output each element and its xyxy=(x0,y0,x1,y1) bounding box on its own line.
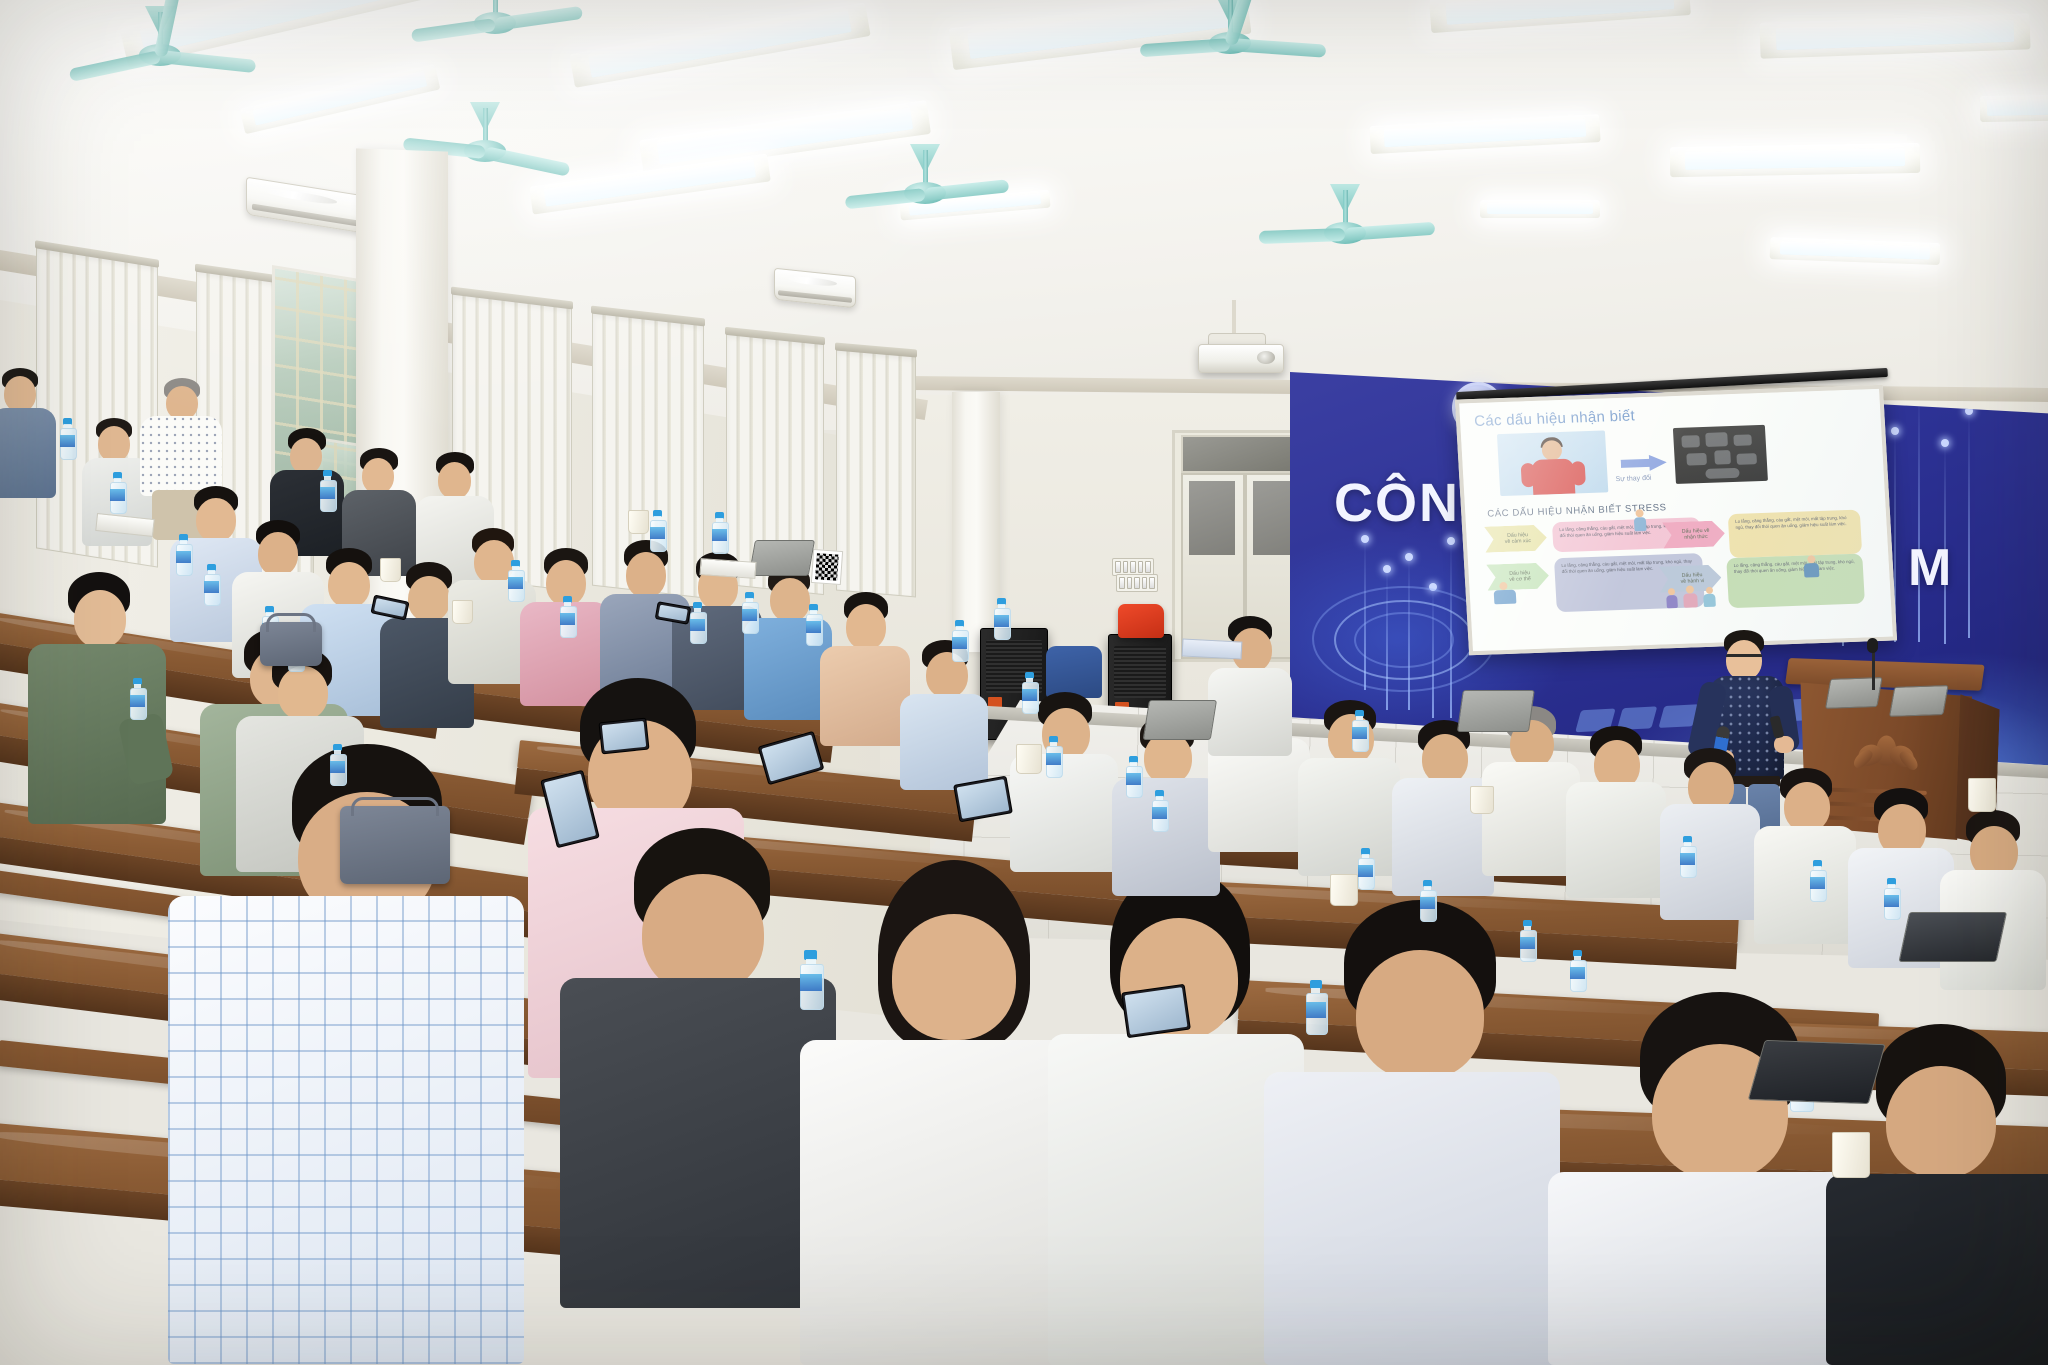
list-item xyxy=(1208,616,1294,756)
water-bottle[interactable] xyxy=(952,620,967,660)
paper-cup[interactable] xyxy=(1470,786,1494,814)
slide-figure-icon xyxy=(1493,581,1520,606)
fluorescent-tube-light xyxy=(1980,94,2048,122)
list-item xyxy=(0,368,60,508)
water-bottle[interactable] xyxy=(508,560,523,600)
list-item xyxy=(28,572,168,822)
water-bottle[interactable] xyxy=(130,678,145,718)
slide-category-bubble: Lo lắng, căng thẳng, cáu gắt, mệt mỏi, m… xyxy=(1728,510,1862,559)
laptop[interactable] xyxy=(1748,1040,1883,1102)
water-bottle[interactable] xyxy=(1570,950,1585,990)
list-item xyxy=(560,828,840,1308)
water-bottle[interactable] xyxy=(712,512,727,552)
laptop[interactable] xyxy=(1457,690,1533,730)
water-bottle[interactable] xyxy=(1352,710,1367,750)
water-bottle[interactable] xyxy=(60,418,75,458)
list-item xyxy=(1566,726,1668,898)
paper-cup[interactable] xyxy=(380,558,401,582)
water-bottle[interactable] xyxy=(806,604,821,644)
backdrop-text-right: M xyxy=(1908,538,1953,598)
slide-photo-blackboard xyxy=(1673,425,1768,484)
backdrop-decor-node xyxy=(1918,392,1920,642)
red-tote-bag xyxy=(1118,604,1164,638)
laptop[interactable] xyxy=(1889,685,1946,715)
water-bottle[interactable] xyxy=(110,472,125,512)
water-bottle[interactable] xyxy=(1810,860,1825,900)
paper-cup[interactable] xyxy=(628,510,649,534)
slide-photo-person xyxy=(1497,430,1608,496)
slide-figure-icon xyxy=(1631,509,1648,536)
water-bottle[interactable] xyxy=(742,592,757,632)
structural-column xyxy=(952,392,1000,652)
water-bottle[interactable] xyxy=(560,596,575,636)
eyeglasses-icon xyxy=(1726,654,1762,665)
slide-category-chevron: Dấu hiệu về cảm xúc xyxy=(1484,525,1547,553)
ceiling-fan xyxy=(60,12,260,102)
list-item xyxy=(1010,692,1120,872)
water-bottle[interactable] xyxy=(994,598,1009,638)
vertical-window-blind[interactable] xyxy=(836,349,916,598)
water-bottle[interactable] xyxy=(800,950,822,1008)
water-bottle[interactable] xyxy=(1046,736,1061,776)
paper-cup[interactable] xyxy=(1016,744,1042,774)
smartphone[interactable] xyxy=(598,718,649,755)
water-bottle[interactable] xyxy=(330,744,345,784)
water-bottle[interactable] xyxy=(1420,880,1435,920)
lecture-hall-photo: CÔNG M Các dấu hiệu nhận biết Sự thay đổ… xyxy=(0,0,2048,1365)
water-bottle[interactable] xyxy=(1126,756,1141,796)
water-bottle[interactable] xyxy=(650,510,665,550)
slide-category-chevron: Dấu hiệu về nhận thức xyxy=(1662,520,1725,548)
list-item xyxy=(820,592,912,748)
slide-title: Các dấu hiệu nhận biết xyxy=(1474,399,1867,430)
water-bottle[interactable] xyxy=(1680,836,1695,876)
list-item xyxy=(1754,768,1858,944)
smartphone[interactable] xyxy=(1121,984,1191,1038)
paper-cup[interactable] xyxy=(1330,874,1358,906)
water-bottle[interactable] xyxy=(1306,980,1326,1034)
notebook[interactable] xyxy=(1182,638,1243,659)
ceiling-fan xyxy=(1250,190,1440,280)
fluorescent-tube-light xyxy=(1480,200,1600,218)
laptop[interactable] xyxy=(1143,700,1215,738)
wall-switch-panel[interactable] xyxy=(1116,574,1158,592)
list-item xyxy=(1940,810,2048,990)
projection-screen: Các dấu hiệu nhận biết Sự thay đổi CÁC D… xyxy=(1455,385,1897,656)
ceiling-fan xyxy=(830,150,1020,240)
slide-category-bubble: Lo lắng, căng thẳng, cáu gắt, mệt mỏi, m… xyxy=(1726,554,1865,609)
water-bottle[interactable] xyxy=(176,534,191,574)
backdrop-decor-node xyxy=(1968,412,1970,638)
water-bottle[interactable] xyxy=(204,564,219,604)
water-bottle[interactable] xyxy=(1884,878,1899,918)
backdrop-decor-ring xyxy=(1354,612,1454,668)
water-bottle[interactable] xyxy=(1358,848,1373,888)
handbag[interactable] xyxy=(340,806,450,884)
list-item xyxy=(1298,700,1402,876)
door-glass-panel xyxy=(1189,481,1235,555)
laptop[interactable] xyxy=(1899,912,2005,960)
microphone-capsule-icon xyxy=(1867,638,1878,653)
ceiling-fan xyxy=(400,0,590,70)
handbag[interactable] xyxy=(260,622,322,666)
water-bottle[interactable] xyxy=(1152,790,1167,830)
water-bottle[interactable] xyxy=(690,602,705,642)
list-item xyxy=(1660,748,1762,920)
paper-cup[interactable] xyxy=(1968,778,1996,812)
water-bottle[interactable] xyxy=(320,470,335,510)
paper-cup[interactable] xyxy=(452,600,473,624)
ceiling-fan xyxy=(1130,0,1330,90)
fluorescent-tube-light xyxy=(1670,143,1920,177)
water-bottle[interactable] xyxy=(1520,920,1535,960)
slide-figure-icon xyxy=(1666,585,1721,611)
laptop[interactable] xyxy=(749,540,813,574)
slide-transition-caption: Sự thay đổi xyxy=(1615,475,1651,483)
water-bottle[interactable] xyxy=(1022,672,1037,712)
presenter-hand xyxy=(1774,736,1794,753)
ceiling-projector xyxy=(1198,344,1284,373)
paper-cup[interactable] xyxy=(1832,1132,1870,1178)
list-item xyxy=(900,640,990,790)
list-item xyxy=(1264,900,1564,1365)
slide-figure-icon xyxy=(1802,555,1821,580)
presentation-slide: Các dấu hiệu nhận biết Sự thay đổi CÁC D… xyxy=(1459,389,1893,651)
lotus-carving xyxy=(1852,730,1919,766)
slide-transition-arrow-icon xyxy=(1620,454,1667,472)
